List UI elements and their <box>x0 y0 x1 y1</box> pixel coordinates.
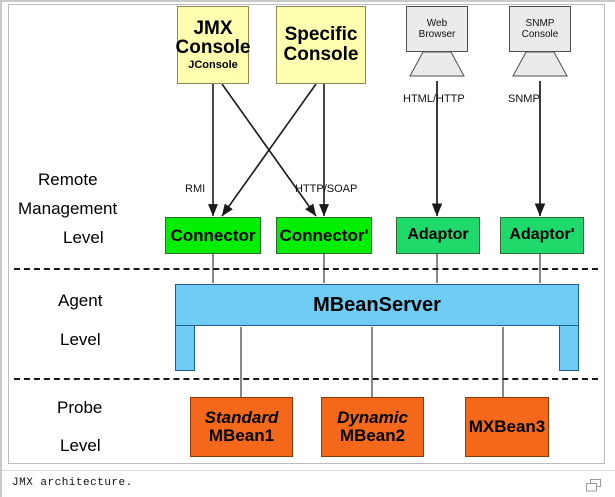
snmp-console-screen: SNMP Console <box>509 6 571 52</box>
jmx-architecture-screenshot: Remote Management Level Agent Level Prob… <box>0 0 615 497</box>
restore-window-icon[interactable] <box>586 479 602 492</box>
level-label-remote-line3: Level <box>63 228 104 248</box>
web-browser-line2: Browser <box>419 29 456 41</box>
mbeanserver-bar[interactable]: MBeanServer <box>175 284 579 326</box>
jmx-console-line1: JMX <box>193 19 232 39</box>
connector2-label: Connector' <box>279 227 368 245</box>
web-browser-line1: Web <box>427 18 447 30</box>
connector-box[interactable]: Connector <box>165 217 261 254</box>
level-label-agent-line2: Level <box>60 330 101 350</box>
jmx-console-box[interactable]: JMX Console JConsole <box>177 6 249 84</box>
adaptor-label: Adaptor <box>407 227 468 244</box>
specific-console-line1: Specific <box>285 25 358 45</box>
mbeanserver-label: MBeanServer <box>313 294 441 317</box>
html-http-label: HTML/HTTP <box>403 93 465 105</box>
level-label-probe-line1: Probe <box>57 398 102 418</box>
http-soap-label: HTTP/SOAP <box>295 183 357 195</box>
level-label-remote-line1: Remote <box>38 170 98 190</box>
snmp-console-line1: SNMP <box>526 18 555 30</box>
adaptor2-box[interactable]: Adaptor' <box>500 217 584 254</box>
specific-console-line2: Console <box>284 45 359 65</box>
standard-mbean1-emph: Standard <box>205 409 279 427</box>
caption-text: JMX architecture. <box>12 477 133 489</box>
dynamic-mbean2-emph: Dynamic <box>337 409 408 427</box>
dynamic-mbean2-plain: MBean2 <box>340 427 405 445</box>
snmp-console-line2: Console <box>522 29 559 41</box>
separator-agent-probe <box>14 378 598 380</box>
adaptor-box[interactable]: Adaptor <box>396 217 480 254</box>
level-label-agent-line1: Agent <box>58 291 102 311</box>
mbeanserver-leg-right <box>559 326 579 371</box>
web-browser-screen: Web Browser <box>406 6 468 52</box>
connector2-box[interactable]: Connector' <box>276 217 372 254</box>
mxbean3-label: MXBean3 <box>469 418 546 436</box>
mbeanserver-leg-left <box>175 326 195 371</box>
rmi-label: RMI <box>185 183 205 195</box>
web-browser-monitor[interactable]: Web Browser <box>406 6 468 82</box>
jmx-console-line2: Console <box>176 38 251 58</box>
specific-console-box[interactable]: Specific Console <box>276 6 366 84</box>
dynamic-mbean2-box[interactable]: Dynamic MBean2 <box>321 397 424 457</box>
snmp-console-monitor[interactable]: SNMP Console <box>509 6 571 82</box>
web-browser-stand <box>406 52 468 80</box>
level-label-probe-line2: Level <box>60 436 101 456</box>
snmp-label: SNMP <box>508 93 540 105</box>
mxbean3-box[interactable]: MXBean3 <box>465 397 549 457</box>
standard-mbean1-plain: MBean1 <box>209 427 274 445</box>
standard-mbean1-box[interactable]: Standard MBean1 <box>190 397 293 457</box>
connector-label: Connector <box>171 227 256 245</box>
separator-remote-agent <box>14 268 598 270</box>
jmx-console-subtitle: JConsole <box>188 60 238 71</box>
level-label-remote-line2: Management <box>18 199 117 219</box>
adaptor2-label: Adaptor' <box>509 227 574 244</box>
snmp-console-stand <box>509 52 571 80</box>
